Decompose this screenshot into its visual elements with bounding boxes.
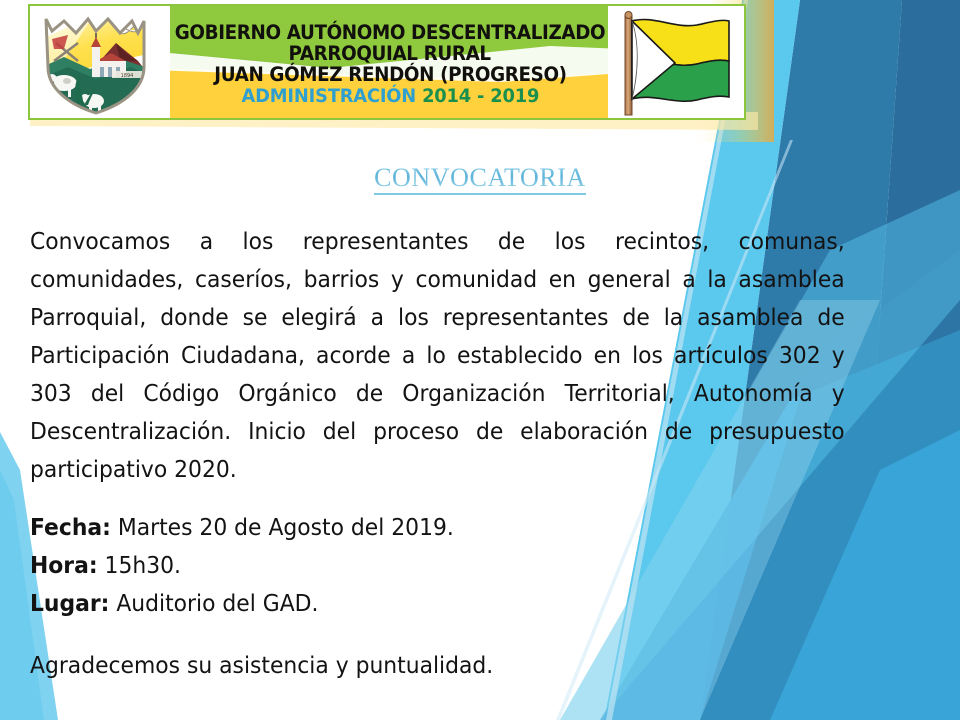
svg-text:1894: 1894 <box>121 73 134 79</box>
banner-admin-line: ADMINISTRACIÓN 2014 - 2019 <box>241 86 539 106</box>
parish-flag <box>613 9 741 119</box>
banner-admin-years: 2014 - 2019 <box>422 85 539 107</box>
event-details: Fecha: Martes 20 de Agosto del 2019. Hor… <box>30 508 681 622</box>
closing-line: Agradecemos su asistencia y puntualidad. <box>30 648 737 682</box>
banner-line-1: GOBIERNO AUTÓNOMO DESCENTRALIZADO <box>175 23 606 44</box>
lugar-label: Lugar: <box>30 589 109 617</box>
page-title-text: CONVOCATORIA <box>374 163 586 195</box>
fecha-label: Fecha: <box>30 513 111 541</box>
coat-of-arms: 1894 <box>34 9 158 117</box>
lugar-value: Auditorio del GAD. <box>116 589 318 617</box>
banner-title-block: GOBIERNO AUTÓNOMO DESCENTRALIZADO PARROQ… <box>160 12 620 118</box>
detail-row-fecha: Fecha: Martes 20 de Agosto del 2019. <box>30 508 681 546</box>
hora-value: 15h30. <box>105 551 181 579</box>
convocatoria-text: Convocamos a los representantes de los r… <box>30 222 845 488</box>
banner-line-3: JUAN GÓMEZ RENDÓN (PROGRESO) <box>214 65 566 86</box>
fecha-value: Martes 20 de Agosto del 2019. <box>118 513 454 541</box>
closing-text: Agradecemos su asistencia y puntualidad. <box>30 651 493 679</box>
body-paragraph: Convocamos a los representantes de los r… <box>30 222 845 488</box>
banner-admin-label: ADMINISTRACIÓN <box>241 85 416 107</box>
banner-inner: 1894 GOBIERNO AUTÓNOMO DESCENTRALIZADO P… <box>28 4 746 120</box>
detail-row-hora: Hora: 15h30. <box>30 546 681 584</box>
hora-label: Hora: <box>30 551 98 579</box>
slide-canvas: 1894 GOBIERNO AUTÓNOMO DESCENTRALIZADO P… <box>0 0 960 720</box>
banner-line-2: PARROQUIAL RURAL <box>289 44 491 65</box>
header-banner: 1894 GOBIERNO AUTÓNOMO DESCENTRALIZADO P… <box>28 4 746 120</box>
detail-row-lugar: Lugar: Auditorio del GAD. <box>30 584 681 622</box>
page-title: CONVOCATORIA <box>0 163 960 193</box>
